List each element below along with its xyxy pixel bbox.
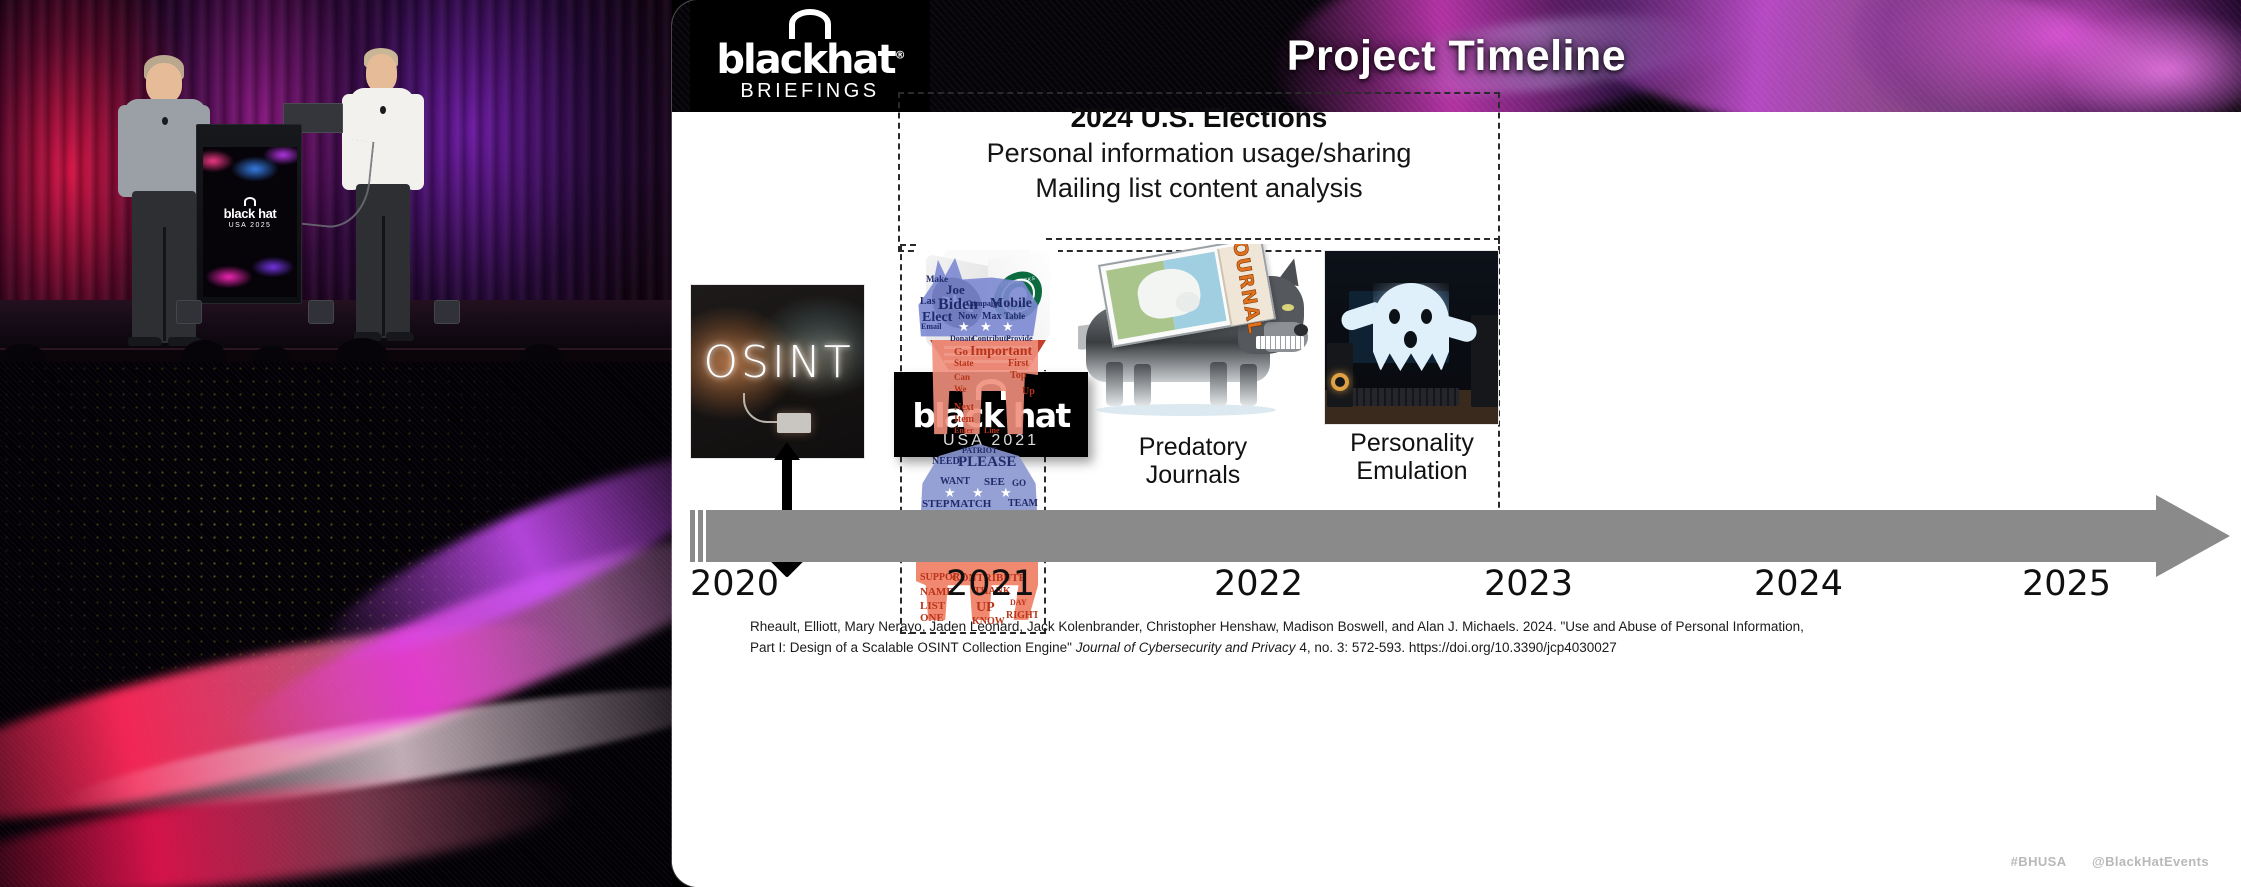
wc-word: TEAM [1008, 498, 1038, 509]
year-label-2023: 2023 [1484, 564, 1573, 604]
wc-word: PLEASE [958, 454, 1016, 471]
ghost-computer-image [1324, 250, 1499, 425]
journal-spine: JOURNAL [1217, 244, 1274, 326]
stage-area: black hat USA 2025 [0, 0, 672, 400]
screenshot-root: black hat USA 2025 [0, 0, 2241, 887]
timeline-start-ticks [690, 510, 706, 562]
osint-neon-text: OSINT [691, 337, 865, 388]
wc-word: GO [1012, 478, 1026, 488]
wc-word: Campaign [966, 299, 1002, 308]
logo-brand-hat: hat [826, 37, 895, 83]
caption-line-1: Predatory [1078, 434, 1308, 462]
black-hat-briefings-logo: blackhat® BRIEFINGS [690, 0, 930, 112]
logo-brand-black: black [716, 37, 826, 83]
wolf-eye [1282, 304, 1294, 311]
predatory-journal-wolf-image: JOURNAL [1078, 244, 1308, 429]
citation-line-2: Part I: Design of a Scalable OSINT Colle… [750, 638, 2060, 659]
stage-monitor-left [176, 300, 202, 324]
hashtag-label: #BHUSA [2011, 854, 2066, 869]
ghost-mouth [1404, 331, 1417, 348]
pointer-arrow-up [774, 442, 800, 460]
year-label-2022: 2022 [1214, 564, 1303, 604]
wolf-leg [1210, 362, 1227, 406]
journal-cover: JOURNAL [1098, 244, 1276, 348]
black-hat-logo-icon [789, 9, 831, 39]
logo-subtitle: BRIEFINGS [740, 80, 879, 103]
stage-monitor-right [434, 300, 460, 324]
social-handles: #BHUSA @BlackHatEvents [1989, 854, 2209, 869]
podium-logo: black hat USA 2025 [197, 197, 302, 229]
stage-camera-feed: black hat USA 2025 [0, 0, 672, 887]
wolf-leg [1134, 364, 1151, 406]
account-label: @BlackHatEvents [2092, 854, 2209, 869]
wc-word: Up [1022, 386, 1035, 397]
led-wall-background [0, 362, 672, 887]
wc-word: MATCH [950, 498, 991, 510]
wc-word: First [1008, 358, 1029, 369]
wc-word: Line [984, 426, 1000, 435]
journal-title: JOURNAL [1227, 244, 1267, 336]
wolf-nose [1294, 324, 1308, 336]
year-label-2021: 2021 [946, 564, 1035, 604]
citation-journal-name: Journal of Cybersecurity and Privacy [1076, 640, 1296, 655]
black-hat-logo-icon [244, 197, 256, 206]
timeline-year-labels: 2020 2021 2022 2023 2024 2025 [672, 564, 2241, 610]
podium: black hat USA 2025 [196, 124, 302, 304]
citation-line-2-a: Part I: Design of a Scalable OSINT Colle… [750, 640, 1076, 655]
wc-word: Donate [950, 334, 974, 343]
caption-line-1: Personality [1312, 430, 1512, 458]
ghost-eye [1389, 309, 1400, 324]
wc-word: Provide [1006, 334, 1033, 343]
ghost-eye [1421, 309, 1432, 324]
presentation-slide: blackhat® BRIEFINGS Project Timeline 202… [672, 0, 2241, 887]
elections-heading: 2024 U.S. Elections [898, 100, 1500, 136]
caption-line-2: Journals [1078, 462, 1308, 490]
wc-word: Las [920, 296, 936, 307]
logo-trademark: ® [895, 49, 904, 62]
keyboard [1351, 388, 1459, 406]
wc-word: Can [954, 372, 970, 382]
timeline-arrow [690, 510, 2230, 562]
podium-event: USA 2025 [197, 222, 302, 229]
wc-word: Top [1010, 370, 1026, 381]
wc-word: Item [954, 414, 974, 425]
timeline-bar [706, 510, 2158, 562]
wc-word: Enter [954, 426, 974, 435]
caption-line-2: Emulation [1312, 458, 1512, 486]
podium-brand: black hat [197, 207, 302, 220]
wc-word: Go [954, 346, 968, 358]
wolf-teeth [1256, 336, 1304, 349]
slide-body: 2024 U.S. Elections Personal information… [672, 112, 2241, 887]
wc-word: Make [926, 274, 948, 284]
predatory-journals-caption: Predatory Journals [1078, 434, 1308, 489]
elections-callout-text: 2024 U.S. Elections Personal information… [898, 100, 1500, 207]
elections-line-3: Mailing list content analysis [898, 171, 1500, 207]
citation-text: Rheault, Elliott, Mary Nerayo, Jaden Leo… [750, 617, 2060, 659]
wc-word: We [954, 384, 967, 394]
citation-line-2-b: 4, no. 3: 572-593. https://doi.org/10.33… [1296, 640, 1617, 655]
wc-word: NEED [932, 456, 960, 467]
logo-wordmark: blackhat® [716, 41, 903, 79]
wolf-leg [1106, 362, 1123, 406]
neon-power-supply [777, 413, 811, 433]
citation-line-1: Rheault, Elliott, Mary Nerayo, Jaden Leo… [750, 617, 2060, 638]
wc-word: Next [954, 402, 974, 413]
speaker-cone [1331, 373, 1349, 391]
elections-line-2: Personal information usage/sharing [898, 136, 1500, 172]
wc-word: Email [921, 322, 941, 331]
osint-neon-sign-image: OSINT [690, 284, 865, 459]
year-label-2020: 2020 [690, 564, 779, 604]
wc-word: PATRIOT [962, 446, 997, 455]
left-speaker [1327, 343, 1353, 407]
wc-word: State [954, 358, 974, 368]
wc-word: Contribute [972, 334, 1010, 343]
wolf-leg [1240, 364, 1257, 406]
stage-monitor-mid [308, 300, 334, 324]
year-label-2025: 2025 [2022, 564, 2111, 604]
year-label-2024: 2024 [1754, 564, 1843, 604]
personality-emulation-caption: Personality Emulation [1312, 430, 1512, 485]
